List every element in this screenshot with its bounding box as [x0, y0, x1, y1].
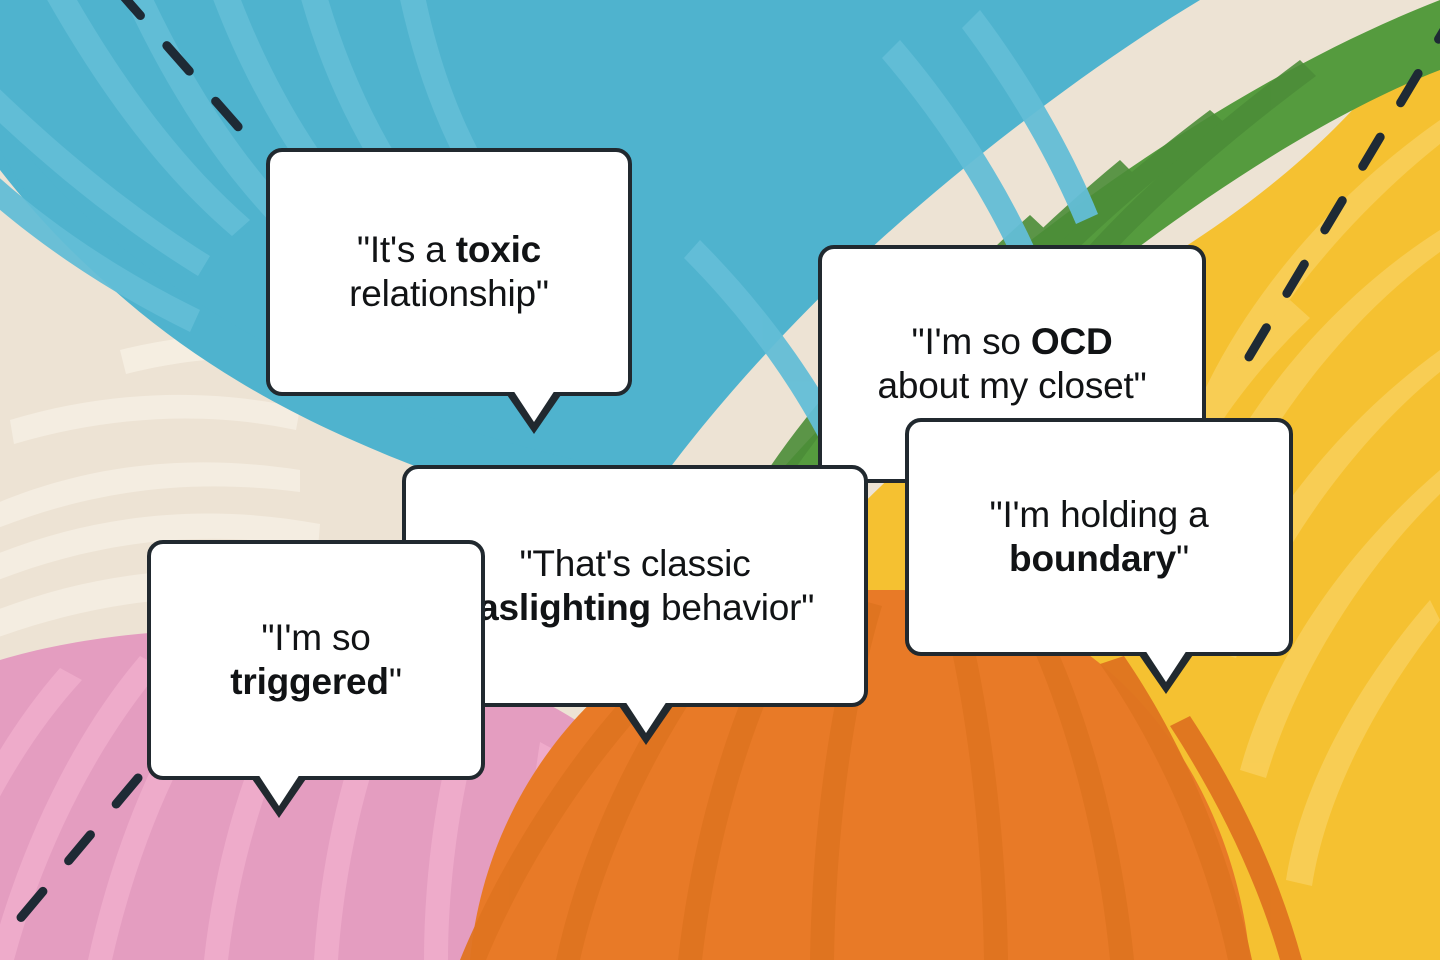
bubble-line-2-post: ": [1176, 538, 1189, 579]
bubble-line-2-bold: triggered: [230, 661, 389, 702]
bubble-line-2-post: ": [389, 661, 402, 702]
bubble-line-1: "That's classic: [519, 543, 750, 584]
bubble-line-1: "I'm so: [261, 617, 370, 658]
bubble-line-2: relationship": [349, 273, 549, 314]
bubble-tail-toxic-relationship: [505, 392, 563, 434]
bubble-line-1-pre: "I'm so: [912, 321, 1031, 362]
bubble-line-2-bold: gaslighting: [456, 587, 651, 628]
speech-bubble-text: "I'm so OCD about my closet": [859, 320, 1164, 407]
bubble-line-1-bold: toxic: [456, 229, 541, 270]
bubble-tail-so-triggered: [250, 776, 308, 818]
speech-bubble-toxic-relationship[interactable]: "It's a toxic relationship": [266, 148, 632, 396]
bubble-line-2-post: behavior": [651, 587, 814, 628]
bubble-line-1-pre: "It's a: [357, 229, 456, 270]
illustration-canvas: "It's a toxic relationship" "I'm so OCD …: [0, 0, 1440, 960]
bubble-line-2-bold: boundary: [1009, 538, 1176, 579]
speech-bubble-so-triggered[interactable]: "I'm so triggered": [147, 540, 485, 780]
speech-bubble-text: "That's classic gaslighting behavior": [438, 542, 832, 629]
bubble-line-2: about my closet": [877, 365, 1146, 406]
speech-bubble-text: "I'm so triggered": [212, 616, 420, 703]
speech-bubble-holding-boundary[interactable]: "I'm holding a boundary": [905, 418, 1293, 656]
bubble-line-1: "I'm holding a: [990, 494, 1209, 535]
bubble-line-1-bold: OCD: [1031, 321, 1113, 362]
bubble-tail-holding-boundary: [1137, 652, 1195, 694]
speech-bubble-text: "It's a toxic relationship": [331, 228, 567, 315]
speech-bubble-text: "I'm holding a boundary": [972, 493, 1227, 580]
bubble-tail-classic-gaslighting: [617, 703, 675, 745]
